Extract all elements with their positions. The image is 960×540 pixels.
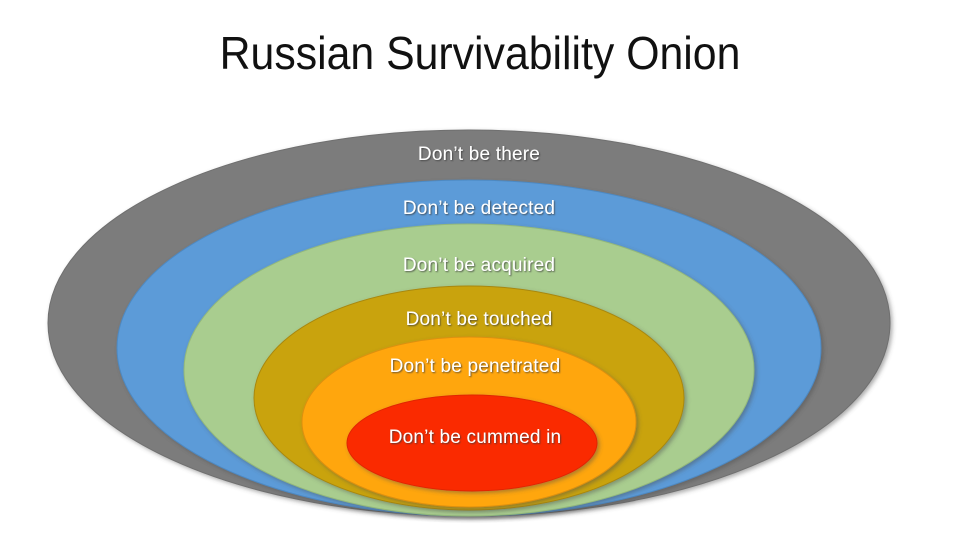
onion-label-cummed-in: Don’t be cummed in xyxy=(389,427,562,448)
onion-layer-cummed-in[interactable]: Don’t be cummed in xyxy=(347,395,597,491)
onion-label-touched: Don’t be touched xyxy=(406,309,553,330)
onion-svg: Don’t be there Don’t be detected Don’t b… xyxy=(0,0,960,540)
slide-canvas: Russian Survivability Onion Don’t be the… xyxy=(0,0,960,540)
onion-label-there: Don’t be there xyxy=(418,144,540,165)
onion-label-acquired: Don’t be acquired xyxy=(403,255,555,276)
onion-label-penetrated: Don’t be penetrated xyxy=(390,356,561,377)
onion-label-detected: Don’t be detected xyxy=(403,198,555,219)
onion-diagram: Don’t be there Don’t be detected Don’t b… xyxy=(0,0,960,540)
